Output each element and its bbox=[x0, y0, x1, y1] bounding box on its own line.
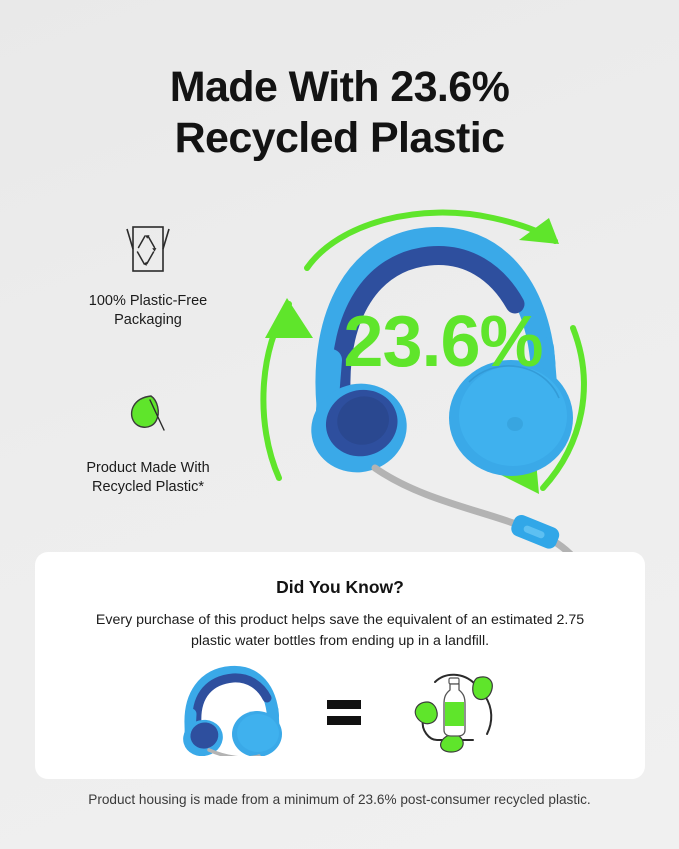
card-body-text: Every purchase of this product helps sav… bbox=[90, 610, 590, 652]
equation-row bbox=[35, 664, 645, 761]
equals-sign bbox=[327, 700, 361, 725]
card-title: Did You Know? bbox=[35, 577, 645, 598]
leaf-top-right bbox=[473, 677, 492, 700]
recycle-box-icon bbox=[43, 218, 253, 280]
equals-bar-bottom bbox=[327, 716, 361, 725]
hero-illustration: 23.6% bbox=[243, 188, 643, 568]
infographic-page: Made With 23.6% Recycled Plastic bbox=[0, 0, 679, 849]
page-title: Made With 23.6% Recycled Plastic bbox=[0, 62, 679, 164]
feature-label: 100% Plastic-Free Packaging bbox=[43, 292, 253, 330]
feature-plastic-free-packaging: 100% Plastic-Free Packaging bbox=[43, 218, 253, 330]
equals-bar-top bbox=[327, 700, 361, 709]
did-you-know-card: Did You Know? Every purchase of this pro… bbox=[35, 552, 645, 779]
headline-line-1: Made With 23.6% bbox=[0, 62, 679, 113]
recycled-bottle-icon bbox=[405, 664, 505, 761]
headline-line-2: Recycled Plastic bbox=[0, 113, 679, 164]
leaf-left bbox=[415, 702, 437, 724]
water-bottle bbox=[444, 678, 465, 736]
footer-disclaimer: Product housing is made from a minimum o… bbox=[0, 792, 679, 807]
blue-headphones bbox=[301, 240, 591, 568]
feature-label: Product Made With Recycled Plastic* bbox=[43, 459, 253, 497]
blue-headphones-small bbox=[175, 664, 283, 761]
feature-recycled-plastic: Product Made With Recycled Plastic* bbox=[43, 385, 253, 497]
leaf-icon bbox=[43, 385, 253, 447]
recycled-percent-label: 23.6% bbox=[243, 306, 643, 378]
